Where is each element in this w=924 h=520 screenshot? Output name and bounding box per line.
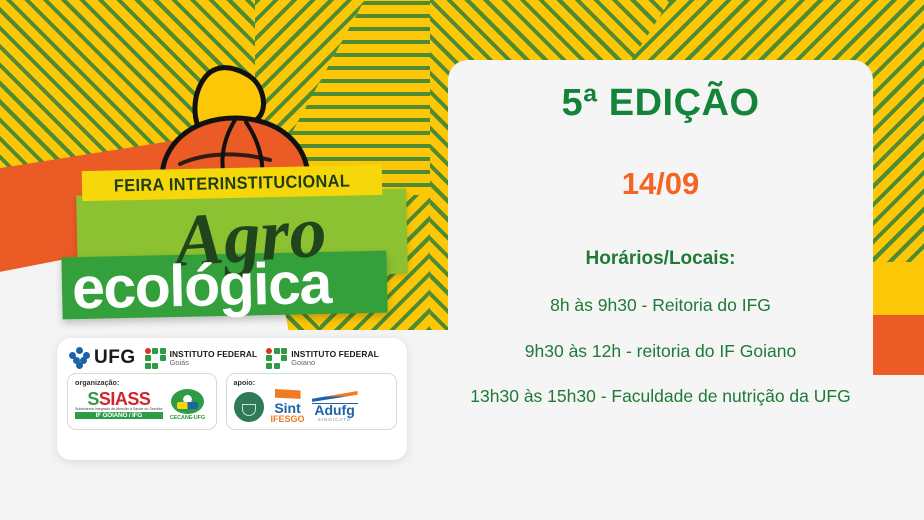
logo-bold-word: ecológica (71, 249, 392, 322)
if-goiano-name: INSTITUTO FEDERAL Goiano (291, 350, 379, 366)
schedule-item: 8h às 9h30 - Reitoria do IFG (470, 294, 851, 316)
schedule-item: 9h30 às 12h - reitoria do IF Goiano (470, 340, 851, 362)
support-box: apoio: Sint IFESGO Adufg SINDICATO (226, 373, 397, 430)
edition-title: 5ª EDIÇÃO (561, 84, 759, 124)
adufg-sub-label: SINDICATO (312, 417, 358, 422)
siass-subtitle: Subsistema Integrado de Atenção à Saúde … (75, 407, 163, 411)
if-goias-name: INSTITUTO FEDERAL Goiás (170, 350, 258, 366)
schedule-heading: Horários/Locais: (586, 248, 736, 270)
ifesgo-label: IFESGO (271, 414, 305, 424)
siass-logo: SSIASS Subsistema Integrado de Atenção à… (75, 391, 163, 419)
siass-strip: IF GOIANO / IFG (75, 412, 163, 419)
sint-label: Sint (271, 402, 305, 414)
cecane-ufg-logo: CECANE-UFG (170, 389, 205, 421)
event-info-card: 5ª EDIÇÃO 14/09 Horários/Locais: 8h às 9… (448, 60, 873, 468)
sint-ifesgo-logo: Sint IFESGO (271, 389, 305, 424)
support-logos: Sint IFESGO Adufg SINDICATO (234, 389, 390, 424)
organization-logos: SSIASS Subsistema Integrado de Atenção à… (75, 389, 210, 421)
organization-box: organização: SSIASS Subsistema Integrado… (67, 373, 217, 430)
poster-canvas: FEIRA INTERINSTITUCIONAL Agro ecológica … (0, 0, 924, 520)
adufg-label: Adufg (312, 403, 358, 417)
if-goias-logo: INSTITUTO FEDERAL Goiás (145, 348, 258, 369)
if-grid-icon (266, 348, 287, 369)
organization-caption: organização: (75, 378, 210, 387)
primary-institutions-row: UFG INSTITUTO FEDERAL Goiás INSTITUTO FE… (57, 338, 407, 373)
siass-wordmark: SSIASS (75, 391, 163, 407)
schedule-item: 13h30 às 15h30 - Faculdade de nutrição d… (470, 385, 851, 407)
adufg-logo: Adufg SINDICATO (312, 391, 358, 422)
ufg-logo: UFG (69, 347, 136, 369)
cecane-emblem-icon (171, 389, 204, 414)
institutions-panel: UFG INSTITUTO FEDERAL Goiás INSTITUTO FE… (57, 338, 407, 460)
event-logo: FEIRA INTERINSTITUCIONAL Agro ecológica (62, 168, 407, 323)
if-goiano-logo: INSTITUTO FEDERAL Goiano (266, 348, 379, 369)
ufg-label: UFG (94, 347, 136, 369)
schedule-list: 8h às 9h30 - Reitoria do IFG 9h30 às 12h… (470, 294, 851, 430)
seal-icon (234, 392, 264, 422)
swoosh-icon (312, 391, 358, 402)
cecane-label: CECANE-UFG (170, 415, 205, 421)
if-grid-icon (145, 348, 166, 369)
secondary-institutions-row: organização: SSIASS Subsistema Integrado… (57, 373, 407, 430)
ufg-dots-icon (69, 347, 91, 369)
event-date: 14/09 (622, 168, 700, 201)
support-caption: apoio: (234, 378, 390, 387)
